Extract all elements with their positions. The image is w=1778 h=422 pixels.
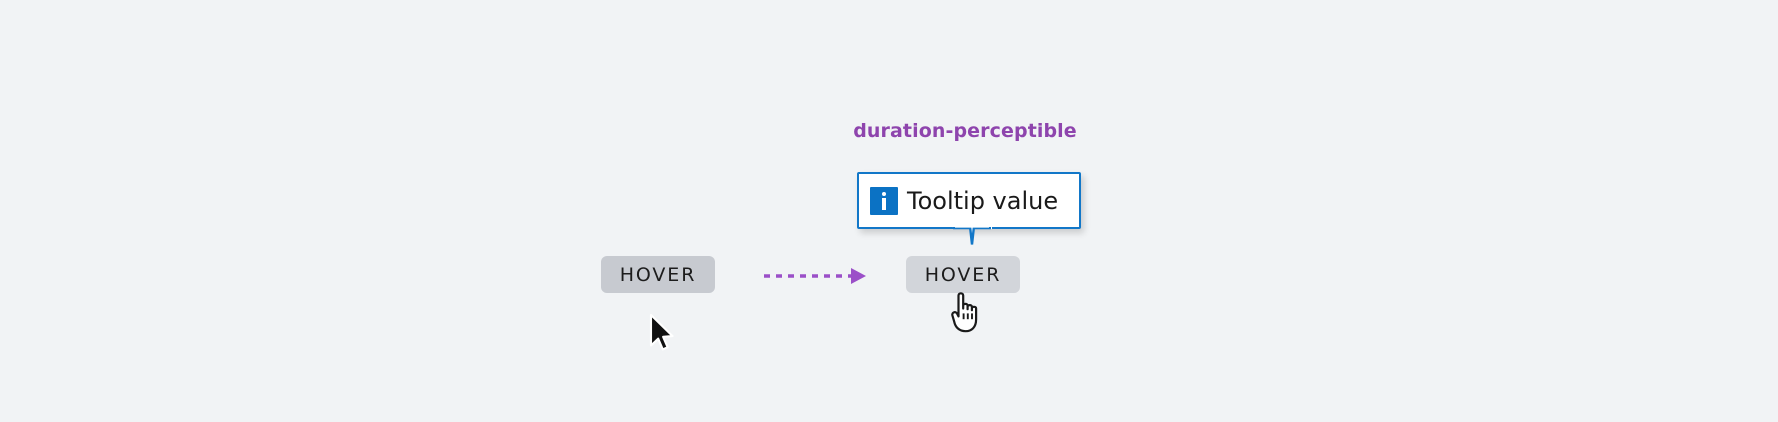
annotation-label-duration-perceptible: duration-perceptible [0, 120, 1778, 142]
arrow-cursor-icon [645, 312, 679, 356]
tooltip-text: Tooltip value [907, 189, 1058, 213]
screenshot-canvas: duration-perceptible Tooltip value HOVER… [0, 0, 1778, 422]
info-icon [870, 187, 898, 215]
pointing-hand-cursor-icon [945, 288, 985, 336]
tooltip: Tooltip value [857, 172, 1081, 229]
hover-button-before[interactable]: HOVER [601, 256, 715, 293]
tooltip-tail-icon [952, 227, 992, 251]
transition-arrow-icon [760, 263, 870, 289]
